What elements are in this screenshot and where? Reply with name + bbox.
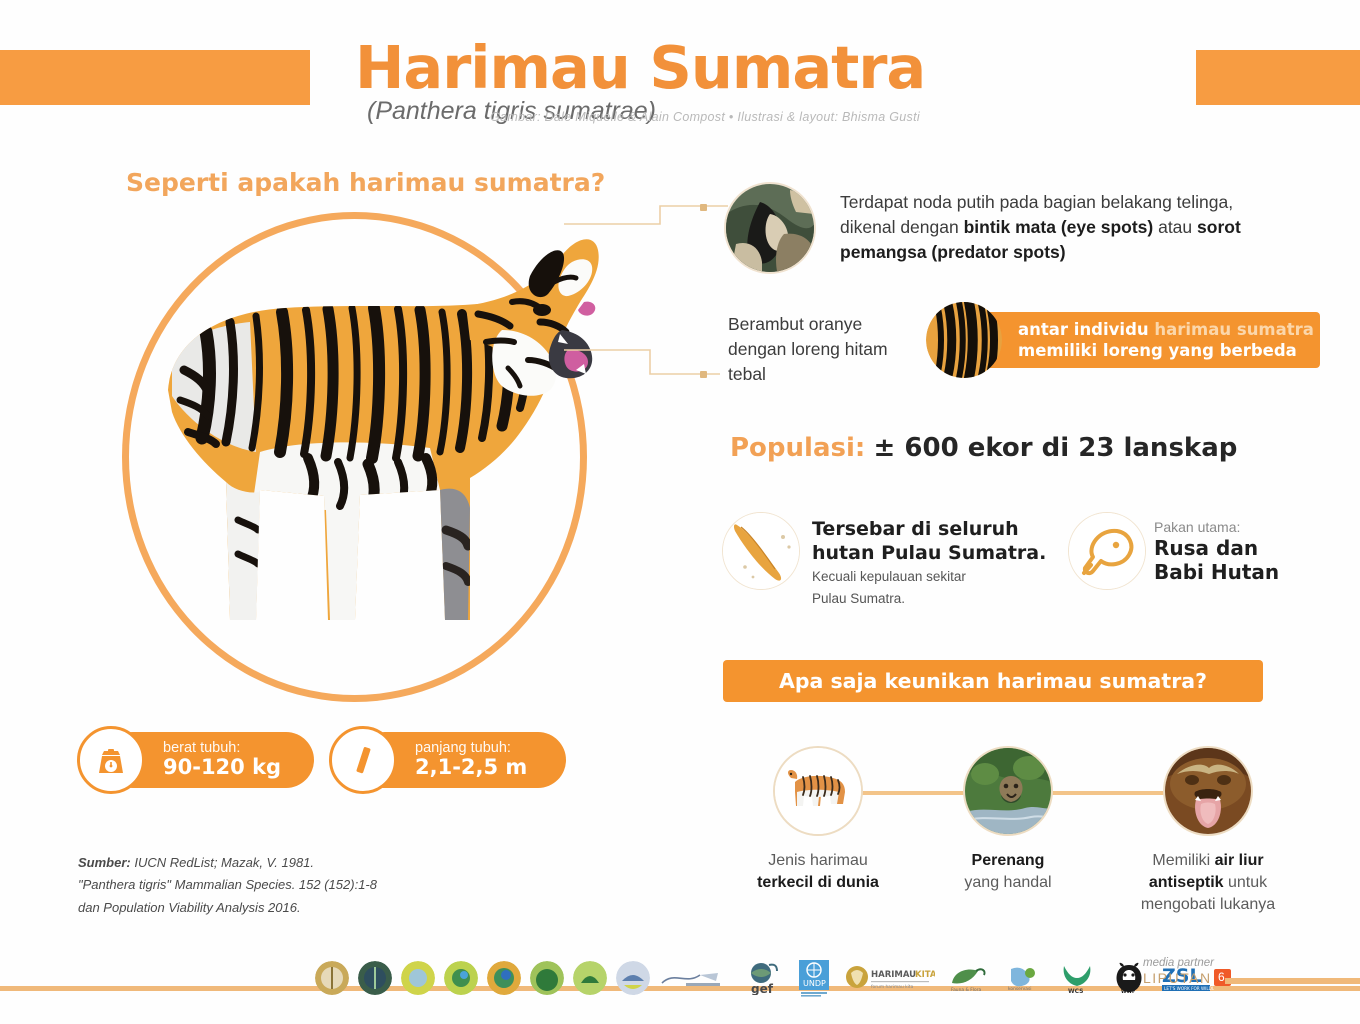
population-key: Populasi: bbox=[730, 433, 865, 463]
distribution-text: Tersebar di seluruh hutan Pulau Sumatra.… bbox=[812, 518, 1052, 609]
tiger-swimming-photo bbox=[963, 746, 1053, 836]
ear-text-part-2: bintik mata (eye spots) bbox=[964, 217, 1154, 237]
meat-drumstick-icon bbox=[1068, 512, 1146, 590]
fact-fur-text: Berambut oranye dengan loreng hitam teba… bbox=[728, 312, 908, 387]
partner-logo-round-4 bbox=[444, 961, 478, 995]
tiger-stripe-photo bbox=[926, 302, 1002, 378]
feature-3-text-normal-1: Memiliki bbox=[1152, 852, 1210, 869]
source-line-1: IUCN RedList; Mazak, V. 1981. bbox=[134, 855, 314, 870]
partner-logo-gef: gef bbox=[742, 961, 784, 995]
distribution-sub-1: Kecuali kepulauan sekitar bbox=[812, 568, 1052, 587]
source-line-3: dan Population Viability Analysis 2016. bbox=[78, 897, 508, 919]
prey-text: Pakan utama: Rusa dan Babi Hutan bbox=[1154, 518, 1334, 584]
stat-body-length: panjang tubuh: 2,1-2,5 m bbox=[357, 732, 566, 788]
stripe-line2: memiliki loreng yang berbeda bbox=[1018, 340, 1314, 361]
svg-text:HARIMAU: HARIMAU bbox=[871, 970, 916, 980]
connector-dot-ear bbox=[700, 204, 707, 211]
partner-logo-round-8 bbox=[616, 961, 650, 995]
ear-text-part-3: atau bbox=[1153, 217, 1197, 237]
svg-text:forum harimau kita: forum harimau kita bbox=[871, 984, 914, 990]
partner-logo-signature bbox=[659, 965, 733, 991]
partner-logo-round-3 bbox=[401, 961, 435, 995]
partner-logo-round-2 bbox=[358, 961, 392, 995]
weight-label: berat tubuh: bbox=[163, 740, 281, 756]
credits-line: Gambar: Dale Miquelle & Alain Compost • … bbox=[355, 110, 1055, 124]
svg-text:gef: gef bbox=[751, 982, 774, 995]
header-bar-right bbox=[1196, 50, 1360, 105]
svg-text:konservasi: konservasi bbox=[1008, 986, 1031, 992]
partner-logo-round-5 bbox=[487, 961, 521, 995]
population-value: ± 600 ekor di 23 lanskap bbox=[874, 433, 1238, 463]
fact-ear-spots-text: Terdapat noda putih pada bagian belakang… bbox=[840, 190, 1285, 265]
liputan-text: LIPUTAN bbox=[1143, 970, 1212, 986]
feature-3-caption: Memiliki air liur antiseptik untuk mengo… bbox=[1113, 850, 1303, 916]
footer-rule-tail bbox=[1225, 978, 1360, 984]
sumatra-map-icon bbox=[722, 512, 800, 590]
svg-text:Fauna & Flora: Fauna & Flora bbox=[951, 987, 982, 993]
distribution-sub-2: Pulau Sumatra. bbox=[812, 590, 1052, 609]
partner-logo-harimaukita: HARIMAU KITA forum harimau kita bbox=[844, 963, 936, 993]
partner-logo-round-6 bbox=[530, 961, 564, 995]
feature-1-text-bold: terkecil di dunia bbox=[757, 874, 879, 891]
infographic-page: Harimau Sumatra(Panthera tigris sumatrae… bbox=[0, 0, 1360, 1024]
svg-text:KITA: KITA bbox=[915, 970, 935, 980]
length-value: 2,1-2,5 m bbox=[415, 756, 527, 780]
feature-2-text-bold: Perenang bbox=[972, 852, 1045, 869]
header-bar-left bbox=[0, 50, 310, 105]
feature-2-caption: Perenang yang handal bbox=[913, 850, 1103, 894]
feature-1-text-normal: Jenis harimau bbox=[768, 852, 868, 869]
partner-logo-blue: konservasi bbox=[1002, 963, 1046, 993]
footer-partner-logos: gef UNDP HARIMAU KITA forum harimau kita bbox=[315, 958, 1215, 998]
connector-line-fur bbox=[560, 340, 730, 390]
stripe-pill-text: antar individu harimau sumatra memiliki … bbox=[1018, 319, 1314, 361]
source-line-2: "Panthera tigris" Mammalian Species. 152… bbox=[78, 874, 508, 896]
source-note: Sumber: IUCN RedList; Mazak, V. 1981. "P… bbox=[78, 852, 508, 919]
distribution-heading-1: Tersebar di seluruh bbox=[812, 518, 1052, 542]
tiger-open-mouth-photo bbox=[1163, 746, 1253, 836]
weight-value: 90-120 kg bbox=[163, 756, 281, 780]
prey-line-2: Babi Hutan bbox=[1154, 560, 1334, 584]
prey-label: Pakan utama: bbox=[1154, 518, 1334, 536]
connector-line-ear bbox=[560, 198, 740, 228]
feature-smallest-tiger: Jenis harimau terkecil di dunia bbox=[723, 746, 913, 894]
svg-text:WWF: WWF bbox=[1121, 989, 1135, 994]
svg-text:UNDP: UNDP bbox=[803, 979, 826, 988]
stripe-line1-faded: harimau sumatra bbox=[1154, 320, 1314, 339]
partner-logo-undp: UNDP bbox=[793, 958, 835, 998]
distribution-heading-2: hutan Pulau Sumatra. bbox=[812, 542, 1052, 566]
svg-text:LET'S WORK FOR WILDLIFE: LET'S WORK FOR WILDLIFE bbox=[1164, 986, 1214, 991]
population-line: Populasi: ± 600 ekor di 23 lanskap bbox=[730, 433, 1237, 463]
weighing-scale-icon bbox=[77, 726, 145, 794]
tiger-illustration bbox=[110, 190, 610, 720]
length-label: panjang tubuh: bbox=[415, 740, 527, 756]
partner-logo-wcs: WCS bbox=[1055, 962, 1099, 994]
feature-1-caption: Jenis harimau terkecil di dunia bbox=[723, 850, 913, 894]
partner-logo-round-1 bbox=[315, 961, 349, 995]
page-title: Harimau Sumatra bbox=[355, 38, 925, 97]
partner-logo-leaf: Fauna & Flora bbox=[945, 963, 993, 993]
stripe-line1-strong: antar individu bbox=[1018, 320, 1154, 339]
ruler-icon bbox=[329, 726, 397, 794]
tiger-standing-illustration bbox=[773, 746, 863, 836]
prey-line-1: Rusa dan bbox=[1154, 536, 1334, 560]
source-prefix: Sumber: bbox=[78, 855, 131, 870]
connector-dot-fur bbox=[700, 371, 707, 378]
stripe-uniqueness-pill: antar individu harimau sumatra memiliki … bbox=[948, 312, 1320, 368]
tiger-ear-photo bbox=[724, 182, 816, 274]
media-partner-label: media partner bbox=[1143, 957, 1263, 969]
feature-antiseptic-saliva: Memiliki air liur antiseptik untuk mengo… bbox=[1113, 746, 1303, 916]
feature-strong-swimmer: Perenang yang handal bbox=[913, 746, 1103, 894]
stat-body-weight: berat tubuh: 90-120 kg bbox=[105, 732, 314, 788]
svg-text:WCS: WCS bbox=[1068, 988, 1083, 994]
unique-banner: Apa saja keunikan harimau sumatra? bbox=[723, 660, 1263, 702]
feature-2-text-normal: yang handal bbox=[964, 874, 1051, 891]
partner-logo-round-7 bbox=[573, 961, 607, 995]
